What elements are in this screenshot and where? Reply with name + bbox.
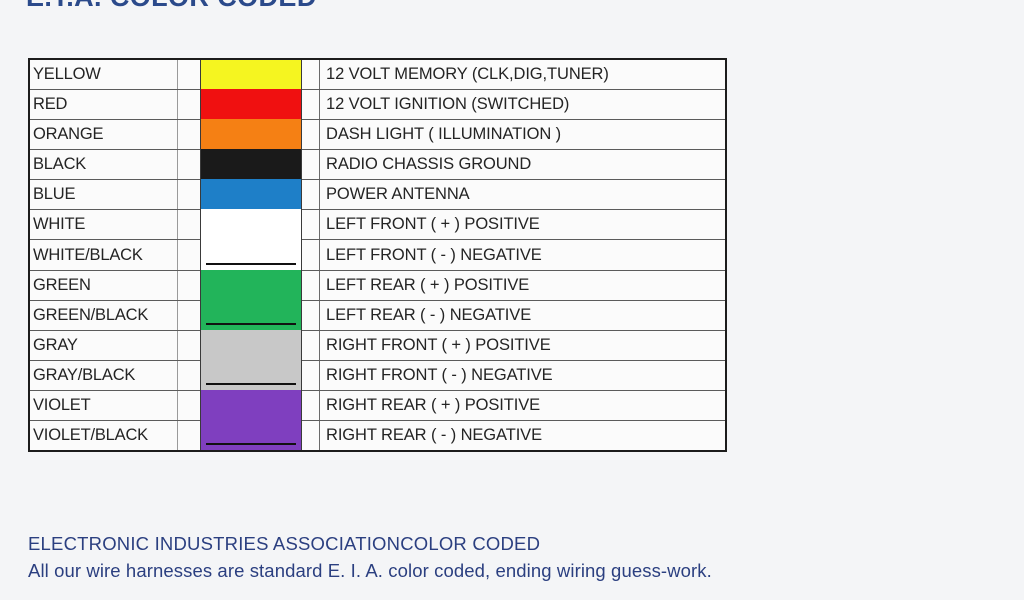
color-swatch <box>200 209 302 240</box>
wire-function-description: LEFT FRONT ( - ) NEGATIVE <box>320 240 725 269</box>
color-swatch <box>200 89 302 120</box>
wire-color-name: VIOLET <box>30 391 178 420</box>
spacer-cell-left <box>178 180 200 209</box>
spacer-cell-left <box>178 60 200 89</box>
color-swatch-cell <box>200 120 302 149</box>
color-swatch-cell <box>200 210 302 239</box>
wire-function-description: LEFT REAR ( + ) POSITIVE <box>320 271 725 300</box>
black-tracer-stripe <box>206 263 296 265</box>
spacer-cell-left <box>178 240 200 269</box>
spacer-cell-left <box>178 391 200 420</box>
color-swatch <box>200 179 302 210</box>
color-swatch <box>200 60 302 90</box>
color-swatch <box>200 420 302 450</box>
color-swatch <box>200 360 302 391</box>
black-tracer-stripe <box>206 443 296 445</box>
color-swatch <box>200 149 302 180</box>
wire-color-name: BLUE <box>30 180 178 209</box>
wire-color-name: GRAY <box>30 331 178 360</box>
table-row: BLUEPOWER ANTENNA <box>30 179 725 209</box>
page-title: E.T.A. COLOR CODED <box>26 0 317 11</box>
wire-function-description: DASH LIGHT ( ILLUMINATION ) <box>320 120 725 149</box>
wire-function-description: 12 VOLT IGNITION (SWITCHED) <box>320 90 725 119</box>
spacer-cell-right <box>302 271 320 300</box>
table-row: GRAYRIGHT FRONT ( + ) POSITIVE <box>30 330 725 360</box>
spacer-cell-left <box>178 271 200 300</box>
spacer-cell-left <box>178 301 200 330</box>
spacer-cell-right <box>302 331 320 360</box>
table-row: WHITELEFT FRONT ( + ) POSITIVE <box>30 209 725 239</box>
color-swatch-cell <box>200 391 302 420</box>
color-swatch-cell <box>200 421 302 450</box>
wire-function-description: POWER ANTENNA <box>320 180 725 209</box>
wire-color-name: VIOLET/BLACK <box>30 421 178 450</box>
color-swatch-cell <box>200 331 302 360</box>
spacer-cell-right <box>302 240 320 269</box>
spacer-cell-right <box>302 361 320 390</box>
spacer-cell-left <box>178 361 200 390</box>
table-row: ORANGEDASH LIGHT ( ILLUMINATION ) <box>30 119 725 149</box>
black-tracer-stripe <box>206 323 296 325</box>
wire-color-name: ORANGE <box>30 120 178 149</box>
wire-color-name: BLACK <box>30 150 178 179</box>
color-swatch-cell <box>200 301 302 330</box>
black-tracer-stripe <box>206 383 296 385</box>
wire-color-name: YELLOW <box>30 60 178 89</box>
color-swatch <box>200 300 302 331</box>
color-swatch <box>200 330 302 361</box>
color-swatch-cell <box>200 180 302 209</box>
wire-function-description: RADIO CHASSIS GROUND <box>320 150 725 179</box>
spacer-cell-right <box>302 391 320 420</box>
wire-function-description: LEFT REAR ( - ) NEGATIVE <box>320 301 725 330</box>
spacer-cell-left <box>178 210 200 239</box>
wire-color-name: GREEN/BLACK <box>30 301 178 330</box>
spacer-cell-right <box>302 120 320 149</box>
spacer-cell-right <box>302 421 320 450</box>
table-row: GREEN/BLACKLEFT REAR ( - ) NEGATIVE <box>30 300 725 330</box>
color-swatch <box>200 390 302 421</box>
spacer-cell-right <box>302 60 320 89</box>
color-swatch-cell <box>200 240 302 269</box>
spacer-cell-right <box>302 90 320 119</box>
color-swatch-cell <box>200 60 302 89</box>
wire-function-description: RIGHT FRONT ( + ) POSITIVE <box>320 331 725 360</box>
footer-line-2: All our wire harnesses are standard E. I… <box>28 557 712 584</box>
wire-function-description: RIGHT REAR ( - ) NEGATIVE <box>320 421 725 450</box>
wire-color-name: WHITE <box>30 210 178 239</box>
spacer-cell-left <box>178 120 200 149</box>
wire-function-description: RIGHT REAR ( + ) POSITIVE <box>320 391 725 420</box>
color-swatch-cell <box>200 90 302 119</box>
wire-function-description: LEFT FRONT ( + ) POSITIVE <box>320 210 725 239</box>
color-swatch <box>200 239 302 270</box>
table-row: BLACKRADIO CHASSIS GROUND <box>30 149 725 179</box>
wire-function-description: 12 VOLT MEMORY (CLK,DIG,TUNER) <box>320 60 725 89</box>
table-row: RED12 VOLT IGNITION (SWITCHED) <box>30 89 725 119</box>
color-swatch <box>200 270 302 301</box>
spacer-cell-right <box>302 180 320 209</box>
spacer-cell-left <box>178 90 200 119</box>
color-swatch-cell <box>200 271 302 300</box>
color-swatch-cell <box>200 361 302 390</box>
footer-line-1: ELECTRONIC INDUSTRIES ASSOCIATIONCOLOR C… <box>28 530 712 557</box>
table-row: VIOLETRIGHT REAR ( + ) POSITIVE <box>30 390 725 420</box>
wire-color-name: GREEN <box>30 271 178 300</box>
footer-note: ELECTRONIC INDUSTRIES ASSOCIATIONCOLOR C… <box>28 530 712 584</box>
wire-color-table: YELLOW12 VOLT MEMORY (CLK,DIG,TUNER)RED1… <box>28 58 727 452</box>
table-row: VIOLET/BLACKRIGHT REAR ( - ) NEGATIVE <box>30 420 725 450</box>
wire-color-name: WHITE/BLACK <box>30 240 178 269</box>
spacer-cell-right <box>302 301 320 330</box>
table-row: GREENLEFT REAR ( + ) POSITIVE <box>30 270 725 300</box>
color-swatch-cell <box>200 150 302 179</box>
spacer-cell-right <box>302 150 320 179</box>
wire-function-description: RIGHT FRONT ( - ) NEGATIVE <box>320 361 725 390</box>
table-row: YELLOW12 VOLT MEMORY (CLK,DIG,TUNER) <box>30 60 725 89</box>
spacer-cell-left <box>178 150 200 179</box>
color-swatch <box>200 119 302 150</box>
spacer-cell-left <box>178 331 200 360</box>
spacer-cell-right <box>302 210 320 239</box>
wire-color-name: RED <box>30 90 178 119</box>
spacer-cell-left <box>178 421 200 450</box>
table-row: GRAY/BLACKRIGHT FRONT ( - ) NEGATIVE <box>30 360 725 390</box>
table-row: WHITE/BLACKLEFT FRONT ( - ) NEGATIVE <box>30 239 725 269</box>
wire-color-name: GRAY/BLACK <box>30 361 178 390</box>
